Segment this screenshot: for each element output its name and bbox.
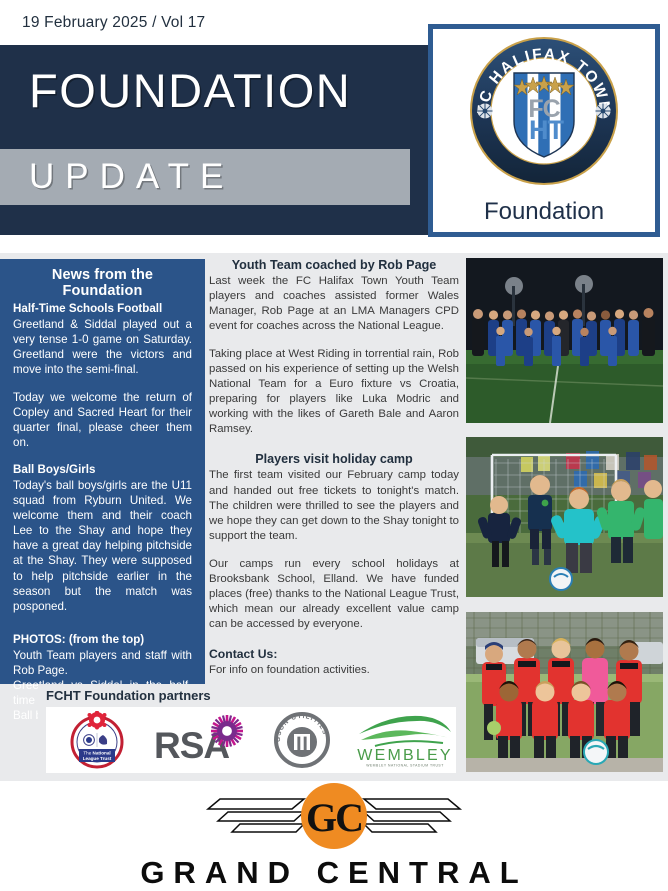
- photo-greetland-vs-siddal-match: [466, 437, 663, 597]
- crest-foundation-label: Foundation: [433, 198, 655, 226]
- svg-text:HT: HT: [529, 115, 564, 145]
- club-crest-box: FC HALIFAX TOWN THE SHAYMEN: [428, 24, 660, 237]
- photo-ball-boys-ryburn-united-u11: [466, 612, 663, 772]
- partner-logo-national-league-trust: The National League Trust: [46, 707, 149, 773]
- svg-text:League Trust: League Trust: [83, 756, 112, 761]
- publication-subtitle: UPDATE: [29, 159, 234, 194]
- news-subhead-schools-football: Half-Time Schools Football: [13, 302, 192, 317]
- sponsor-name: GRAND CENTRAL: [0, 855, 668, 891]
- article-heading-youth-team: Youth Team coached by Rob Page: [209, 258, 459, 272]
- masthead-banner: FOUNDATION UPDATE: [0, 45, 449, 235]
- article-paragraph: Taking place at West Riding in torrentia…: [209, 347, 459, 437]
- news-paragraph: Today we welcome the return of Copley an…: [13, 390, 192, 450]
- article-paragraph: The first team visited our February camp…: [209, 468, 459, 543]
- svg-text:GC: GC: [306, 795, 362, 840]
- contact-heading: Contact Us:: [209, 647, 459, 661]
- article-paragraph: Last week the FC Halifax Town Youth Team…: [209, 274, 459, 334]
- photo-youth-team-with-rob-page: [466, 258, 663, 423]
- svg-text:WEMBLEY: WEMBLEY: [357, 747, 452, 764]
- partners-logo-strip: The National League Trust RSA: [46, 707, 456, 773]
- news-paragraph: Greetland & Siddal played out a very ten…: [13, 317, 192, 377]
- partner-logo-megson-utilities: MEGSON UTILITIES LTD: [251, 707, 354, 773]
- news-sidebar-panel: News from the Foundation Half-Time Schoo…: [0, 259, 205, 684]
- article-heading-holiday-camp: Players visit holiday camp: [209, 452, 459, 466]
- partner-logo-wembley: WEMBLEY WEMBLEY NATIONAL STADIUM TRUST: [354, 707, 457, 773]
- news-panel-heading: News from the Foundation: [13, 267, 192, 299]
- contact-intro: For info on foundation activities.: [209, 663, 459, 678]
- partners-panel: FCHT Foundation partners The National: [38, 684, 462, 776]
- club-crest-icon: FC HALIFAX TOWN THE SHAYMEN: [468, 35, 620, 187]
- sponsor-footer: GC GRAND CENTRAL: [0, 781, 668, 888]
- partners-heading: FCHT Foundation partners: [46, 688, 456, 703]
- svg-text:WEMBLEY NATIONAL STADIUM TRUST: WEMBLEY NATIONAL STADIUM TRUST: [366, 764, 444, 768]
- news-subhead-photos: PHOTOS: (from the top): [13, 633, 192, 648]
- news-subhead-ball-boys-girls: Ball Boys/Girls: [13, 463, 192, 478]
- publication-title: FOUNDATION: [29, 67, 351, 114]
- partner-logo-rsa: RSA: [149, 707, 252, 773]
- grand-central-logo-icon: GC: [164, 783, 504, 862]
- photo-caption-1: Youth Team players and staff with Rob Pa…: [13, 648, 192, 678]
- svg-text:The National: The National: [84, 751, 111, 756]
- main-article-column: Youth Team coached by Rob Page Last week…: [209, 258, 459, 722]
- article-paragraph: Our camps run every school holidays at B…: [209, 557, 459, 632]
- news-paragraph: Today's ball boys/girls are the U11 squa…: [13, 478, 192, 614]
- issue-date-volume: 19 February 2025 / Vol 17: [22, 14, 205, 32]
